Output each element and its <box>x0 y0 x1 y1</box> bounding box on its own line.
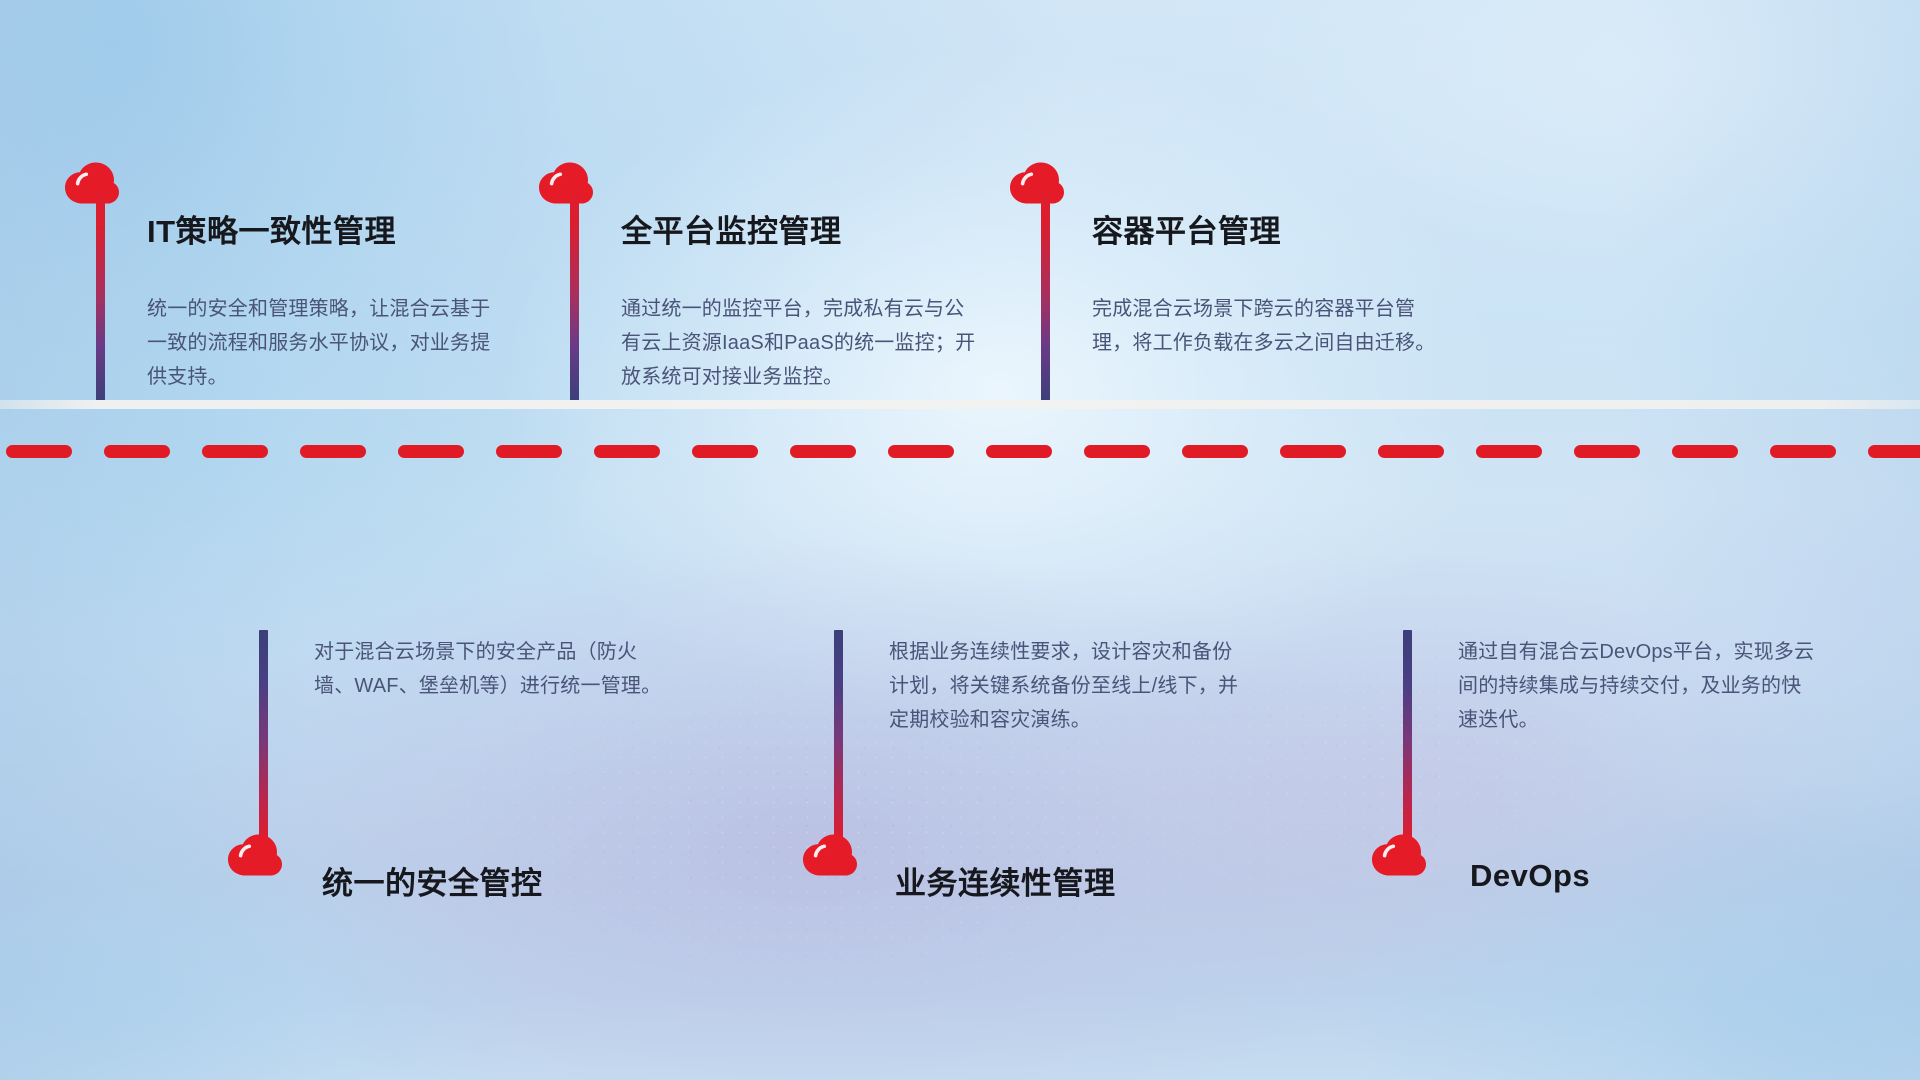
card-description-text: 通过统一的监控平台，完成私有云与公有云上资源IaaS和PaaS的统一监控；开放系… <box>621 292 981 394</box>
road-dash <box>1868 445 1920 458</box>
road-dash <box>1084 445 1150 458</box>
cloud-icon <box>227 834 283 876</box>
card-description: 对于混合云场景下的安全产品（防火墙、WAF、堡垒机等）进行统一管理。 <box>314 635 674 703</box>
road-dash <box>594 445 660 458</box>
cloud-icon <box>64 162 120 204</box>
card-heading: IT策略一致性管理 <box>147 206 396 251</box>
infographic-canvas: IT策略一致性管理 统一的安全和管理策略，让混合云基于一致的流程和服务水平协议，… <box>0 0 1920 1080</box>
road-dash <box>692 445 758 458</box>
card-heading: 容器平台管理 <box>1092 206 1281 251</box>
background-vignette <box>0 0 1920 1080</box>
road-dash <box>1770 445 1836 458</box>
card-description-text: 统一的安全和管理策略，让混合云基于一致的流程和服务水平协议，对业务提供支持。 <box>147 292 499 394</box>
card-description-text: 根据业务连续性要求，设计容灾和备份计划，将关键系统备份至线上/线下，并定期校验和… <box>889 635 1251 737</box>
road-dash <box>1182 445 1248 458</box>
road-dash <box>300 445 366 458</box>
cloud-icon <box>802 834 858 876</box>
card-description: 根据业务连续性要求，设计容灾和备份计划，将关键系统备份至线上/线下，并定期校验和… <box>889 635 1251 737</box>
card-description: 统一的安全和管理策略，让混合云基于一致的流程和服务水平协议，对业务提供支持。 <box>147 292 499 394</box>
road-dash <box>1672 445 1738 458</box>
road-dash <box>790 445 856 458</box>
cloud-icon <box>1009 162 1065 204</box>
pin-stem <box>96 180 105 402</box>
card-heading: 业务连续性管理 <box>895 858 1116 903</box>
card-heading: 统一的安全管控 <box>322 858 543 903</box>
road-dash <box>1280 445 1346 458</box>
road-dash <box>104 445 170 458</box>
pin-stem <box>259 630 268 852</box>
road-dash <box>986 445 1052 458</box>
card-description-text: 对于混合云场景下的安全产品（防火墙、WAF、堡垒机等）进行统一管理。 <box>314 635 674 703</box>
road-dash <box>398 445 464 458</box>
pin-stem <box>1403 630 1412 852</box>
pin-stem <box>570 180 579 402</box>
road-dash <box>1378 445 1444 458</box>
pin-stem <box>1041 180 1050 402</box>
road-dash <box>888 445 954 458</box>
road-dash <box>202 445 268 458</box>
road-dash <box>6 445 72 458</box>
road-line-upper <box>0 400 1920 409</box>
card-description-text: 通过自有混合云DevOps平台，实现多云间的持续集成与持续交付，及业务的快速迭代… <box>1458 635 1816 737</box>
cloud-icon <box>538 162 594 204</box>
card-heading: DevOps <box>1470 858 1590 894</box>
road-dash <box>1574 445 1640 458</box>
card-description: 通过统一的监控平台，完成私有云与公有云上资源IaaS和PaaS的统一监控；开放系… <box>621 292 981 394</box>
card-heading: 全平台监控管理 <box>621 206 842 251</box>
road-dash <box>496 445 562 458</box>
cloud-icon <box>1371 834 1427 876</box>
card-description: 完成混合云场景下跨云的容器平台管理，将工作负载在多云之间自由迁移。 <box>1092 292 1452 360</box>
pin-stem <box>834 630 843 852</box>
road-divider <box>0 400 1920 409</box>
road-dash-row <box>0 444 1920 458</box>
road-dash <box>1476 445 1542 458</box>
card-description: 通过自有混合云DevOps平台，实现多云间的持续集成与持续交付，及业务的快速迭代… <box>1458 635 1816 737</box>
card-description-text: 完成混合云场景下跨云的容器平台管理，将工作负载在多云之间自由迁移。 <box>1092 292 1452 360</box>
